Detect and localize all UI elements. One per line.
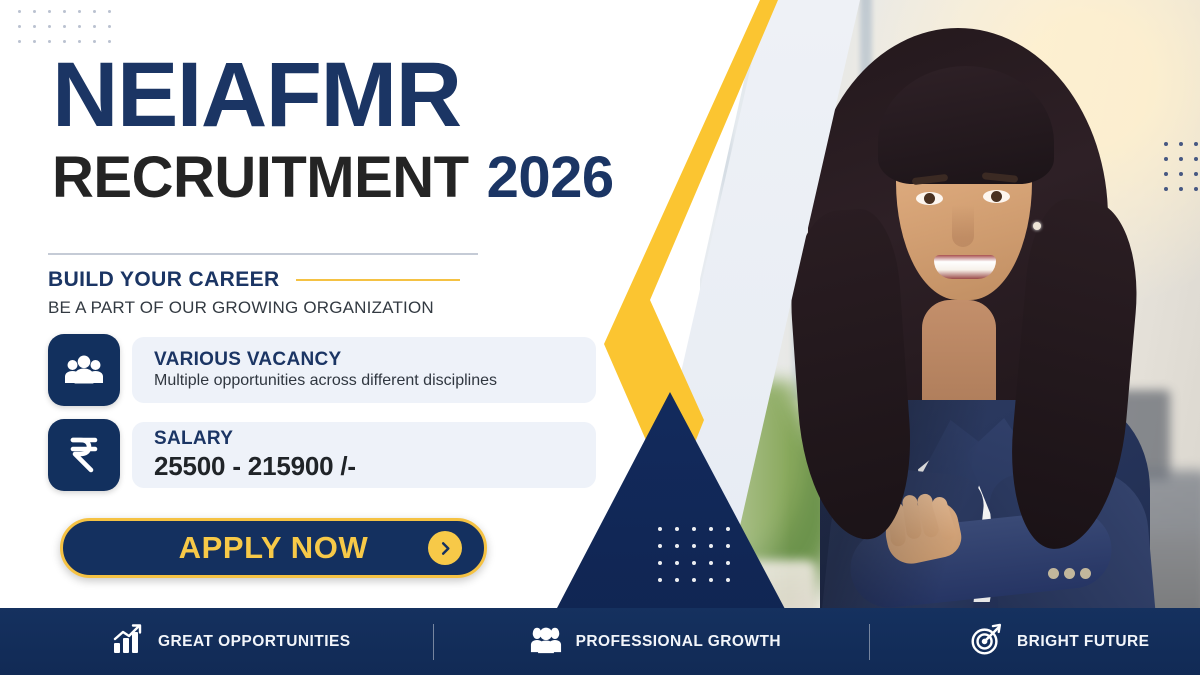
grid-dot [726, 527, 730, 531]
grid-dot [1164, 172, 1168, 176]
apply-now-button[interactable]: APPLY NOW [60, 518, 487, 578]
divider-rule [48, 253, 478, 255]
grid-dot [1194, 157, 1198, 161]
grid-dot [1194, 142, 1198, 146]
info-cards: VARIOUS VACANCY Multiple opportunities a… [48, 334, 596, 504]
growth-chart-icon [112, 623, 144, 660]
grid-dot [1194, 187, 1198, 191]
footer-item-growth: PROFESSIONAL GROWTH [530, 623, 781, 660]
grid-dot [1164, 142, 1168, 146]
info-card-salary-body: SALARY 25500 - 215900 /- [132, 422, 596, 488]
grid-dot [1164, 187, 1168, 191]
dot-grid-right [1164, 142, 1200, 194]
grid-dot [709, 527, 713, 531]
recruitment-banner: NEIAFMR RECRUITMENT 2026 BUILD YOUR CARE… [0, 0, 1200, 675]
info-card-vacancy: VARIOUS VACANCY Multiple opportunities a… [48, 334, 596, 406]
rupee-icon [48, 419, 120, 491]
footer-item-future: BRIGHT FUTURE [970, 623, 1149, 661]
group-people-icon [48, 334, 120, 406]
grid-dot [709, 578, 713, 582]
recruitment-year: 2026 [487, 144, 614, 211]
info-card-salary: SALARY 25500 - 215900 /- [48, 419, 596, 491]
grid-dot [709, 544, 713, 548]
grid-dot [1164, 157, 1168, 161]
grid-dot [709, 561, 713, 565]
info-card-subtitle: Multiple opportunities across different … [154, 371, 596, 391]
grid-dot [726, 578, 730, 582]
title-block: NEIAFMR RECRUITMENT 2026 [52, 52, 672, 211]
info-card-title: SALARY [154, 428, 596, 450]
footer-label: GREAT OPPORTUNITIES [158, 633, 351, 651]
grid-dot [726, 561, 730, 565]
grid-dot [726, 544, 730, 548]
grid-dot [1179, 157, 1183, 161]
info-card-title: VARIOUS VACANCY [154, 349, 596, 371]
salary-range: 25500 - 215900 /- [154, 450, 596, 483]
footer-label: PROFESSIONAL GROWTH [576, 633, 781, 651]
grid-dot [1179, 187, 1183, 191]
grid-dot [1194, 172, 1198, 176]
title-secondary-row: RECRUITMENT 2026 [52, 144, 672, 211]
tagline-accent-rule [296, 279, 460, 281]
footer-divider [869, 624, 870, 660]
footer-label: BRIGHT FUTURE [1017, 633, 1149, 651]
grid-dot [1179, 142, 1183, 146]
content-column: NEIAFMR RECRUITMENT 2026 BUILD YOUR CARE… [0, 0, 700, 675]
apply-now-label: APPLY NOW [179, 530, 369, 566]
footer-bar: GREAT OPPORTUNITIES PROFESSIONAL GROWTH [0, 608, 1200, 675]
chevron-right-icon[interactable] [428, 531, 462, 565]
grid-dot [1179, 172, 1183, 176]
recruitment-word: RECRUITMENT [52, 144, 469, 211]
tagline-row: BUILD YOUR CAREER [48, 268, 460, 292]
footer-divider [433, 624, 434, 660]
info-card-vacancy-body: VARIOUS VACANCY Multiple opportunities a… [132, 337, 596, 403]
organization-title: NEIAFMR [52, 52, 672, 138]
people-icon [530, 623, 562, 660]
footer-item-opportunities: GREAT OPPORTUNITIES [112, 623, 351, 660]
target-icon [970, 623, 1003, 661]
tagline: BUILD YOUR CAREER [48, 268, 280, 292]
subtagline: BE A PART OF OUR GROWING ORGANIZATION [48, 298, 434, 318]
